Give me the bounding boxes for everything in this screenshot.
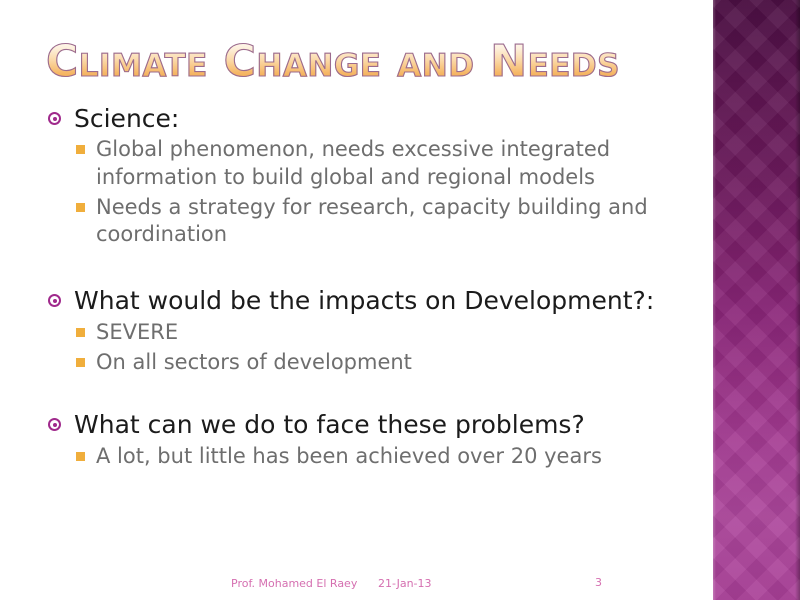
bullet-level1-label: Science: (74, 104, 179, 133)
band-right-shadow (795, 0, 800, 600)
bullet-level2: Needs a strategy for research, capacity … (0, 194, 700, 249)
presentation-slide: Climate Change and Needs Science: Global… (0, 0, 800, 600)
bullet-level1-label: What can we do to face these problems? (74, 410, 585, 439)
bullet-level2-label: Needs a strategy for research, capacity … (96, 195, 648, 246)
square-bullet-icon (76, 328, 85, 337)
bullet-level1: Science: (0, 103, 700, 134)
slide-title: Climate Change and Needs (46, 38, 686, 86)
footer-author: Prof. Mohamed El Raey (231, 577, 357, 590)
circled-dot-bullet-icon (48, 112, 61, 125)
bullet-level2: A lot, but little has been achieved over… (0, 443, 700, 470)
bullet-level2-label: SEVERE (96, 320, 178, 344)
bullet-level2: SEVERE (0, 319, 700, 346)
slide-number: 3 (595, 576, 602, 589)
circled-dot-bullet-icon (48, 294, 61, 307)
slide-footer: Prof. Mohamed El Raey 21-Jan-13 3 (0, 574, 713, 596)
square-bullet-icon (76, 145, 85, 154)
bullet-level2-label: A lot, but little has been achieved over… (96, 444, 602, 468)
footer-date: 21-Jan-13 (378, 577, 432, 590)
bullet-level2: Global phenomenon, needs excessive integ… (0, 136, 700, 191)
diamond-pattern-overlay (713, 0, 800, 600)
bullet-level1: What can we do to face these problems? (0, 409, 700, 440)
block-spacer (0, 379, 700, 409)
circled-dot-bullet-icon (48, 418, 61, 431)
slide-decorative-side-band (713, 0, 800, 600)
bullet-level1-label: What would be the impacts on Development… (74, 286, 654, 315)
bullet-level2-label: Global phenomenon, needs excessive integ… (96, 137, 610, 188)
square-bullet-icon (76, 203, 85, 212)
bullet-level2: On all sectors of development (0, 349, 700, 376)
block-spacer (0, 251, 700, 285)
slide-body: Science: Global phenomenon, needs excess… (0, 103, 700, 473)
bullet-level2-label: On all sectors of development (96, 350, 412, 374)
band-left-highlight (713, 0, 716, 600)
square-bullet-icon (76, 452, 85, 461)
bullet-level1: What would be the impacts on Development… (0, 285, 700, 316)
square-bullet-icon (76, 358, 85, 367)
